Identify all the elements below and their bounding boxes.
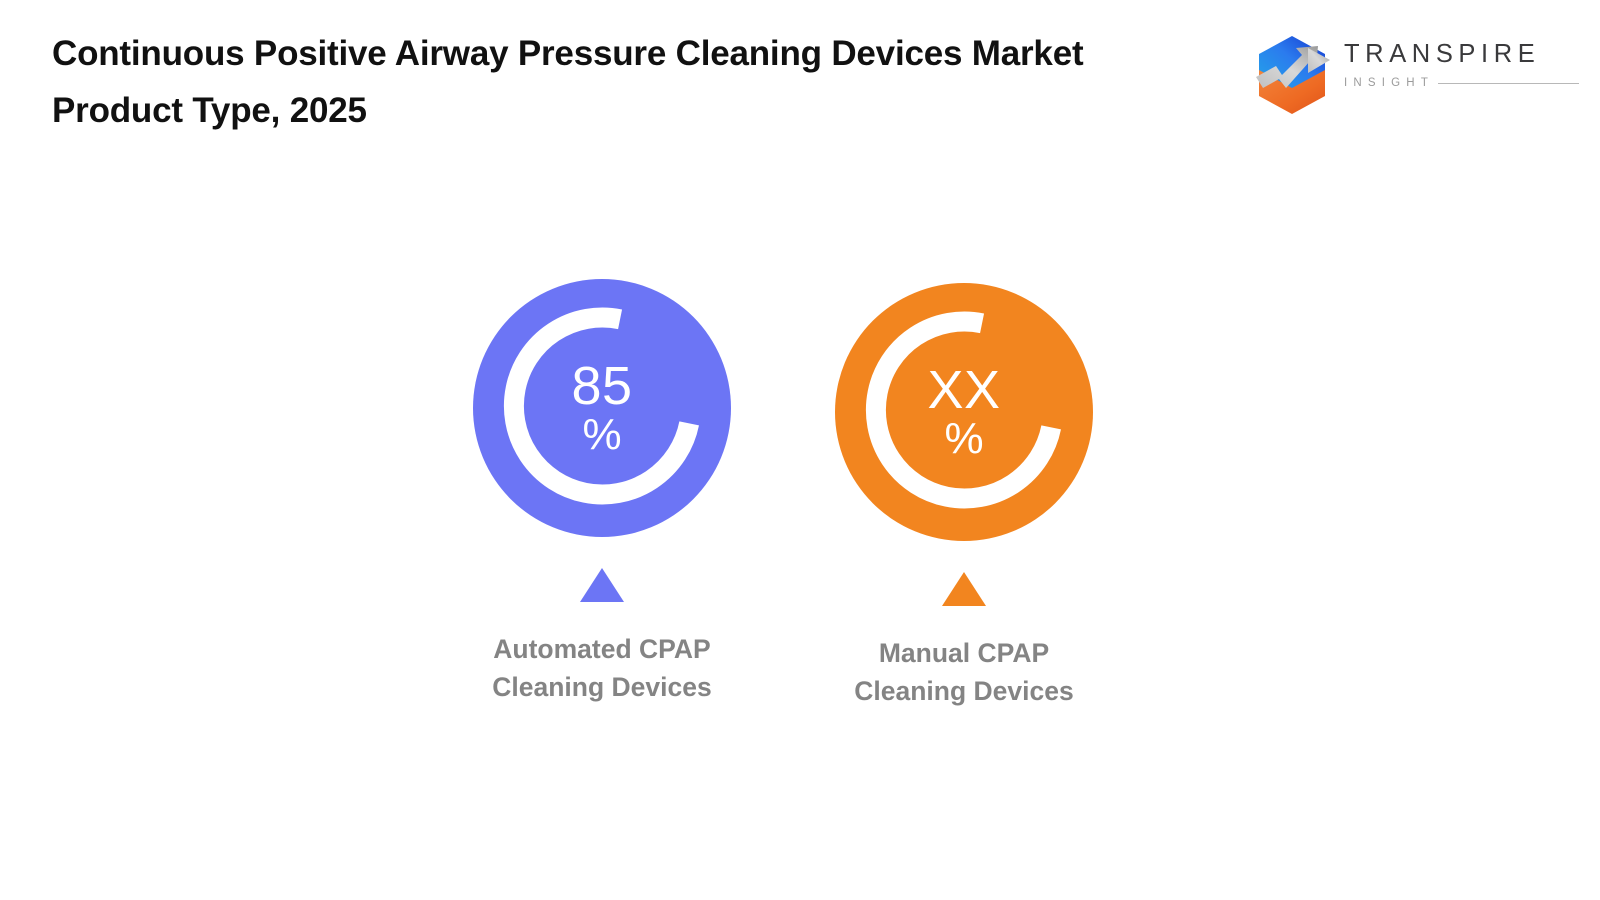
donut-unit-automated-cpap-cleaning-devices: 85 % Automated CPAP Cleaning Devices xyxy=(442,278,762,707)
pointer-triangle-0 xyxy=(580,568,624,602)
donut-chart-0: 85 % xyxy=(472,278,732,538)
category-label-0: Automated CPAP Cleaning Devices xyxy=(442,630,762,707)
donut-chart-1: XX % xyxy=(834,282,1094,542)
infographic-canvas: Continuous Positive Airway Pressure Clea… xyxy=(0,0,1600,900)
donut-unit-manual-cpap-cleaning-devices: XX % Manual CPAP Cleaning Devices xyxy=(804,282,1124,711)
category-label-1: Manual CPAP Cleaning Devices xyxy=(804,634,1124,711)
pointer-triangle-1 xyxy=(942,572,986,606)
donut-chart-group: 85 % Automated CPAP Cleaning Devices XX … xyxy=(0,0,1600,900)
